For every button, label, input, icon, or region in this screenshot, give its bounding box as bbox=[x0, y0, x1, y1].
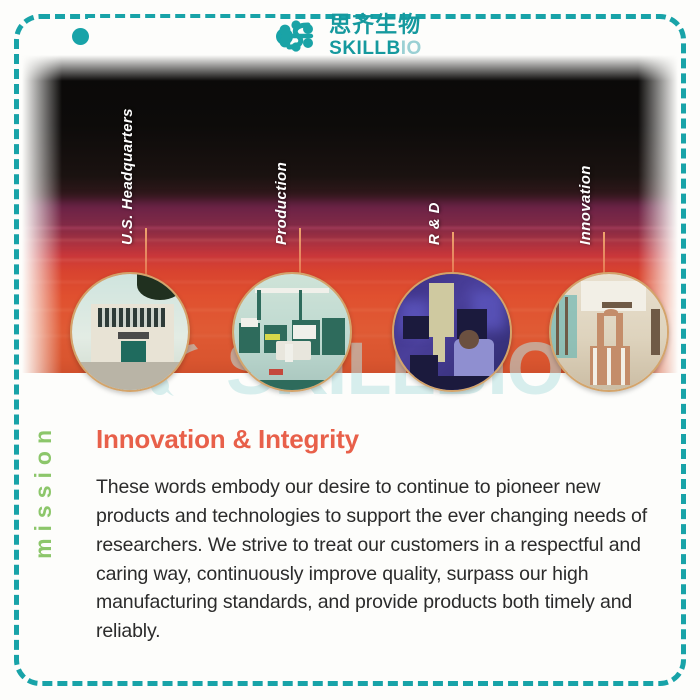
label-innovation: Innovation bbox=[577, 165, 594, 245]
photo-circle-headquarters bbox=[70, 272, 190, 392]
brand-name-english: SKILLBIO bbox=[329, 39, 422, 58]
brand-name-english-main: SKILLB bbox=[329, 38, 401, 59]
photo-circle-innovation bbox=[549, 272, 669, 392]
mission-content: Innovation & Integrity These words embod… bbox=[96, 424, 674, 646]
mission-section-label: mission bbox=[30, 423, 57, 559]
mission-title: Innovation & Integrity bbox=[96, 424, 674, 455]
connector-line-headquarters bbox=[145, 228, 147, 278]
mission-paragraph: These words embody our desire to continu… bbox=[96, 473, 674, 646]
page-root: SKILLBIO U.S. Headquarters Production R … bbox=[0, 0, 700, 700]
sky-streak bbox=[22, 259, 678, 261]
brand-header: 思齐生物 SKILLBIO bbox=[0, 12, 700, 60]
brand-name-english-tail: IO bbox=[401, 38, 422, 59]
connector-line-production bbox=[299, 228, 301, 278]
label-rd: R & D bbox=[426, 202, 443, 245]
skillbio-molecule-icon bbox=[278, 19, 320, 53]
photo-circle-rd bbox=[392, 272, 512, 392]
label-us-headquarters: U.S. Headquarters bbox=[119, 108, 136, 245]
label-production: Production bbox=[273, 162, 290, 245]
brand-name-chinese: 思齐生物 bbox=[329, 15, 422, 37]
brand-wordmark: 思齐生物 SKILLBIO bbox=[329, 15, 422, 58]
banner-left-fade bbox=[22, 55, 62, 373]
photo-circle-production bbox=[232, 272, 352, 392]
